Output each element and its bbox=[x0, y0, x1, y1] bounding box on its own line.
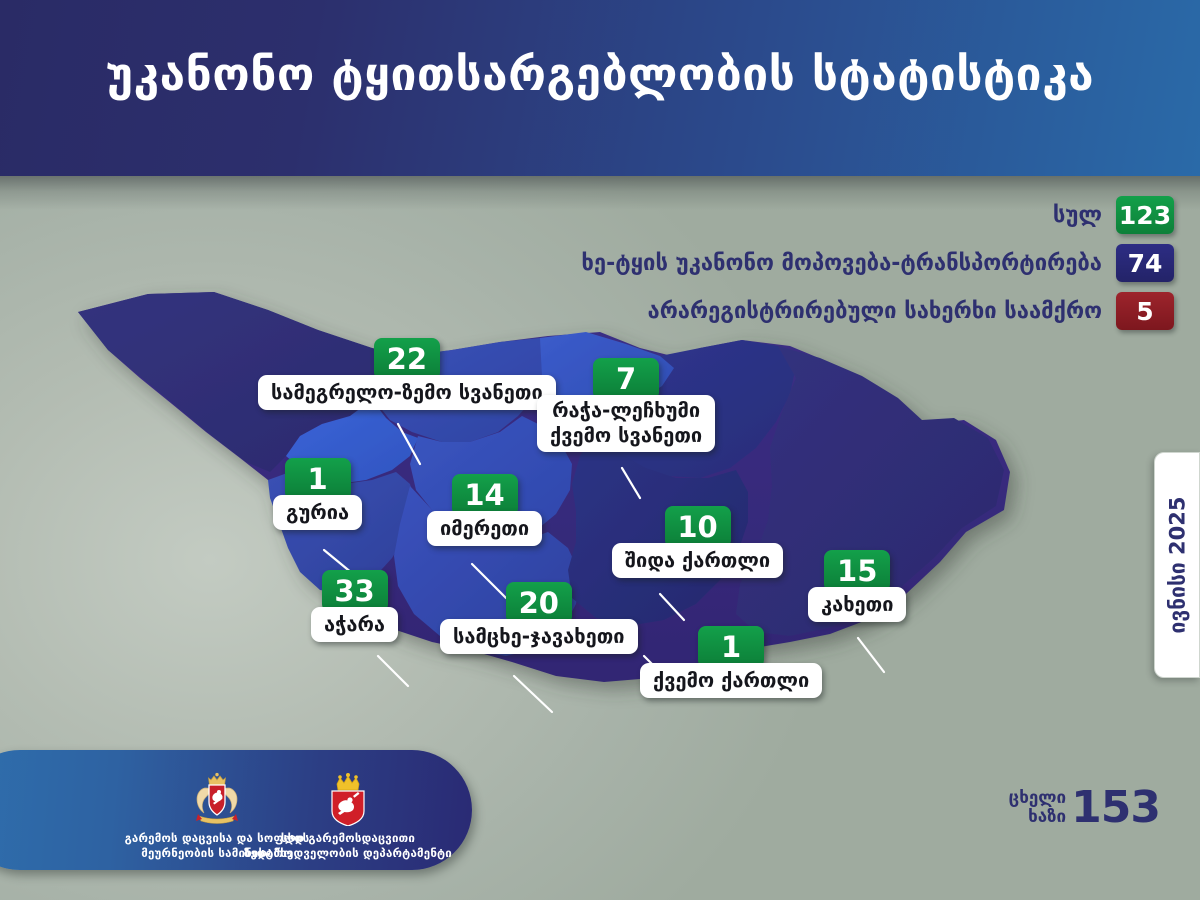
infographic-canvas: 22 სამეგრელო-ზემო სვანეთი 7 რაჭა-ლეჩხუმი… bbox=[0, 0, 1200, 900]
callout-kvemo-kartli[interactable]: 1 ქვემო ქართლი bbox=[640, 626, 822, 698]
legend-label-total: სულ bbox=[1053, 203, 1102, 228]
callout-guria[interactable]: 1 გურია bbox=[273, 458, 362, 530]
callout-shida-kartli[interactable]: 10 შიდა ქართლი bbox=[612, 506, 783, 578]
footer-banner: გარემოს დაცვისა და სოფლის მეურნეობის სამ… bbox=[0, 750, 472, 870]
hotline-word-1: ცხელი bbox=[1009, 789, 1067, 808]
region-label-imereti: იმერეთი bbox=[427, 511, 542, 546]
org-department-line1: სსდ გარემოსდაცვითი bbox=[228, 831, 468, 846]
legend-value-total: 123 bbox=[1116, 196, 1174, 234]
hotline-number: 153 bbox=[1071, 786, 1160, 830]
org-department-line2: ზედამხედველობის დეპარტამენტი bbox=[228, 846, 468, 861]
region-label-racha-line2: ქვემო სვანეთი bbox=[550, 423, 702, 447]
legend-row-unregistered-sawmill[interactable]: არარეგისტრირებული სახერხი საამქრო 5 bbox=[434, 292, 1174, 330]
callout-ajara[interactable]: 33 აჭარა bbox=[311, 570, 398, 642]
badge-value-kvemo: 1 bbox=[698, 626, 764, 668]
hotline-word-2: ხაზი bbox=[1009, 808, 1067, 827]
legend: სულ 123 ხე-ტყის უკანონო მოპოვება-ტრანსპო… bbox=[434, 196, 1174, 340]
callout-samegrelo-zemo-svaneti[interactable]: 22 სამეგრელო-ზემო სვანეთი bbox=[258, 338, 556, 410]
region-label-racha: რაჭა-ლეჩხუმი ქვემო სვანეთი bbox=[537, 395, 715, 452]
region-label-guria: გურია bbox=[273, 495, 362, 530]
legend-row-illegal-logging[interactable]: ხე-ტყის უკანონო მოპოვება-ტრანსპორტირება … bbox=[434, 244, 1174, 282]
hotline-label: ცხელი ხაზი bbox=[1009, 789, 1067, 827]
header-banner: უკანონო ტყითსარგებლობის სტატისტიკა bbox=[0, 0, 1200, 176]
legend-label-illegal-logging: ხე-ტყის უკანონო მოპოვება-ტრანსპორტირება bbox=[581, 251, 1102, 276]
legend-value-unregistered-sawmill: 5 bbox=[1116, 292, 1174, 330]
region-label-racha-line1: რაჭა-ლეჩხუმი bbox=[552, 398, 700, 422]
badge-value-racha: 7 bbox=[593, 358, 659, 400]
region-label-kakheti: კახეთი bbox=[808, 587, 906, 622]
legend-label-unregistered-sawmill: არარეგისტრირებული სახერხი საამქრო bbox=[648, 299, 1102, 324]
region-label-samegrelo: სამეგრელო-ზემო სვანეთი bbox=[258, 375, 556, 410]
hotline[interactable]: ცხელი ხაზი 153 bbox=[1009, 786, 1160, 830]
badge-value-samegrelo: 22 bbox=[374, 338, 440, 380]
badge-value-shida: 10 bbox=[665, 506, 731, 548]
department-emblem-icon bbox=[325, 772, 371, 826]
callout-racha-lechkhumi[interactable]: 7 რაჭა-ლეჩხუმი ქვემო სვანეთი bbox=[537, 358, 715, 452]
badge-value-guria: 1 bbox=[285, 458, 351, 500]
callout-kakheti[interactable]: 15 კახეთი bbox=[808, 550, 906, 622]
callout-samtskhe-javakheti[interactable]: 20 სამცხე-ჯავახეთი bbox=[440, 582, 638, 654]
region-label-shida: შიდა ქართლი bbox=[612, 543, 783, 578]
badge-value-imereti: 14 bbox=[452, 474, 518, 516]
callout-imereti[interactable]: 14 იმერეთი bbox=[427, 474, 542, 546]
page-title: უკანონო ტყითსარგებლობის სტატისტიკა bbox=[0, 46, 1200, 102]
badge-value-samtskhe: 20 bbox=[506, 582, 572, 624]
badge-value-kakheti: 15 bbox=[824, 550, 890, 592]
badge-value-ajara: 33 bbox=[322, 570, 388, 612]
legend-value-illegal-logging: 74 bbox=[1116, 244, 1174, 282]
region-label-ajara: აჭარა bbox=[311, 607, 398, 642]
region-label-samtskhe: სამცხე-ჯავახეთი bbox=[440, 619, 638, 654]
period-tab[interactable]: ივნისი 2025 bbox=[1154, 452, 1200, 678]
org-department: სსდ გარემოსდაცვითი ზედამხედველობის დეპარ… bbox=[228, 772, 468, 861]
period-tab-label: ივნისი 2025 bbox=[1165, 497, 1189, 634]
legend-row-total[interactable]: სულ 123 bbox=[434, 196, 1174, 234]
region-label-kvemo: ქვემო ქართლი bbox=[640, 663, 822, 698]
